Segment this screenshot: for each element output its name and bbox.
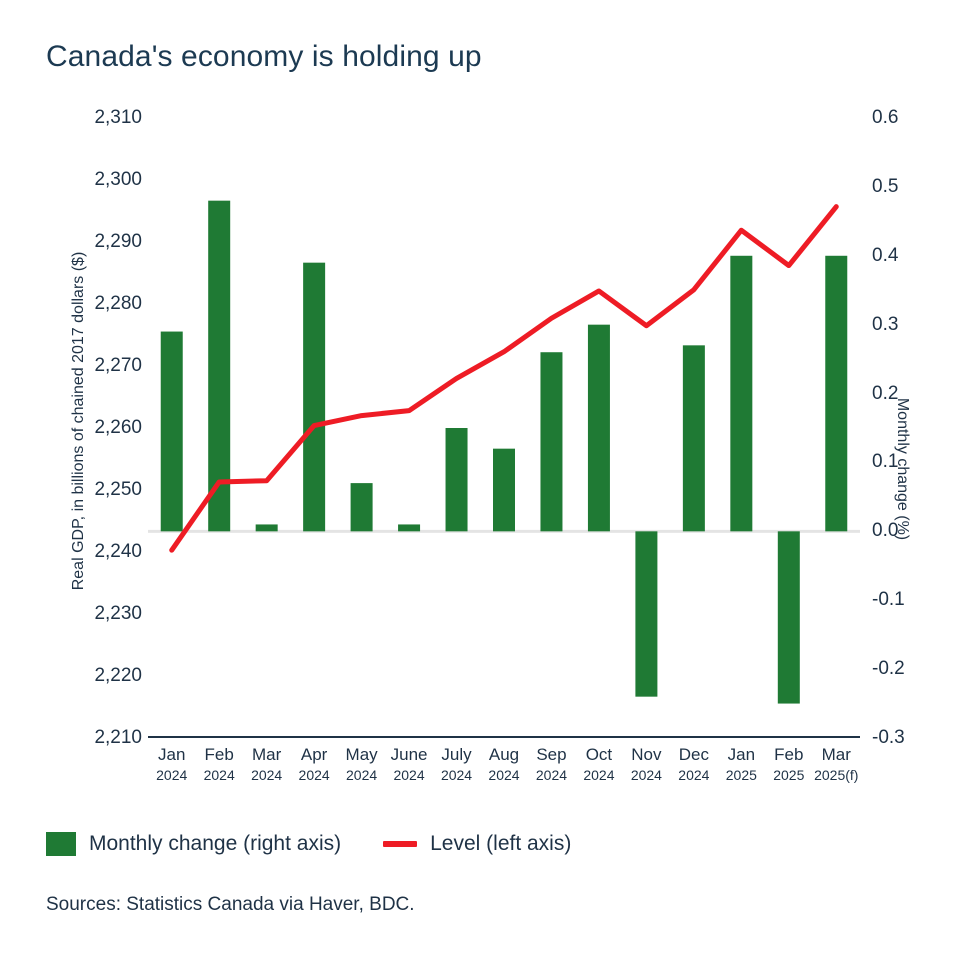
x-axis-tick-label: Mar2025(f) bbox=[814, 744, 858, 786]
chart-legend: Monthly change (right axis) Level (left … bbox=[46, 832, 571, 856]
bar bbox=[446, 428, 468, 531]
bar bbox=[398, 524, 420, 531]
bar bbox=[683, 345, 705, 531]
left-axis-tick-label: 2,290 bbox=[94, 231, 142, 253]
x-axis-tick-label: July2024 bbox=[441, 744, 472, 786]
right-axis-tick-label: 0.4 bbox=[872, 245, 898, 267]
left-axis-tick-label: 2,280 bbox=[94, 293, 142, 315]
left-axis-tick-label: 2,210 bbox=[94, 727, 142, 749]
right-axis-tick-label: 0.5 bbox=[872, 176, 898, 198]
bar bbox=[635, 531, 657, 696]
right-axis-tick-label: -0.2 bbox=[872, 658, 905, 680]
left-axis-title: Real GDP, in billions of chained 2017 do… bbox=[70, 186, 88, 656]
bar-swatch-icon bbox=[46, 832, 76, 856]
legend-label-level: Level (left axis) bbox=[430, 832, 571, 856]
x-axis-labels: Jan2024Feb2024Mar2024Apr2024May2024June2… bbox=[148, 744, 860, 804]
x-axis-tick-label: Feb2025 bbox=[773, 744, 804, 786]
x-axis-tick-label: Jan2024 bbox=[156, 744, 187, 786]
plot-area bbox=[148, 118, 860, 738]
legend-item-level: Level (left axis) bbox=[383, 832, 571, 856]
chart-page: Canada's economy is holding up 2,3102,30… bbox=[0, 0, 960, 960]
chart-canvas bbox=[148, 118, 860, 738]
right-axis-title-container: Monthly change (%) bbox=[890, 330, 914, 610]
x-axis-tick-label: June2024 bbox=[391, 744, 428, 786]
bar bbox=[730, 256, 752, 532]
left-axis-tick-label: 2,310 bbox=[94, 107, 142, 129]
left-axis-tick-label: 2,270 bbox=[94, 355, 142, 377]
bar bbox=[540, 352, 562, 531]
left-axis-tick-label: 2,250 bbox=[94, 479, 142, 501]
source-note: Sources: Statistics Canada via Haver, BD… bbox=[46, 894, 415, 916]
line-swatch-icon bbox=[383, 841, 417, 847]
page-title: Canada's economy is holding up bbox=[46, 40, 482, 74]
bar bbox=[256, 524, 278, 531]
bar bbox=[303, 263, 325, 532]
x-axis-tick-label: Aug2024 bbox=[488, 744, 519, 786]
legend-label-monthly-change: Monthly change (right axis) bbox=[89, 832, 341, 856]
x-axis-tick-label: Sep2024 bbox=[536, 744, 567, 786]
left-axis-tick-label: 2,230 bbox=[94, 603, 142, 625]
right-axis-tick-label: 0.6 bbox=[872, 107, 898, 129]
bar bbox=[351, 483, 373, 531]
bar bbox=[588, 325, 610, 532]
bar bbox=[161, 332, 183, 532]
left-axis-tick-label: 2,220 bbox=[94, 665, 142, 687]
legend-item-monthly-change: Monthly change (right axis) bbox=[46, 832, 341, 856]
left-axis-title-container: Real GDP, in billions of chained 2017 do… bbox=[56, 120, 80, 740]
x-axis-tick-label: Apr2024 bbox=[299, 744, 330, 786]
bar bbox=[493, 449, 515, 532]
bar bbox=[825, 256, 847, 532]
right-axis-tick-label: -0.3 bbox=[872, 727, 905, 749]
left-axis-tick-label: 2,260 bbox=[94, 417, 142, 439]
x-axis-tick-label: Feb2024 bbox=[204, 744, 235, 786]
x-axis-tick-label: Jan2025 bbox=[726, 744, 757, 786]
x-axis-tick-label: May2024 bbox=[346, 744, 378, 786]
left-axis-tick-label: 2,300 bbox=[94, 169, 142, 191]
left-axis-tick-label: 2,240 bbox=[94, 541, 142, 563]
x-axis-tick-label: Mar2024 bbox=[251, 744, 282, 786]
bar bbox=[778, 531, 800, 703]
right-axis-title: Monthly change (%) bbox=[893, 329, 911, 609]
x-axis-tick-label: Dec2024 bbox=[678, 744, 709, 786]
x-axis-tick-label: Oct2024 bbox=[583, 744, 614, 786]
x-axis-tick-label: Nov2024 bbox=[631, 744, 662, 786]
